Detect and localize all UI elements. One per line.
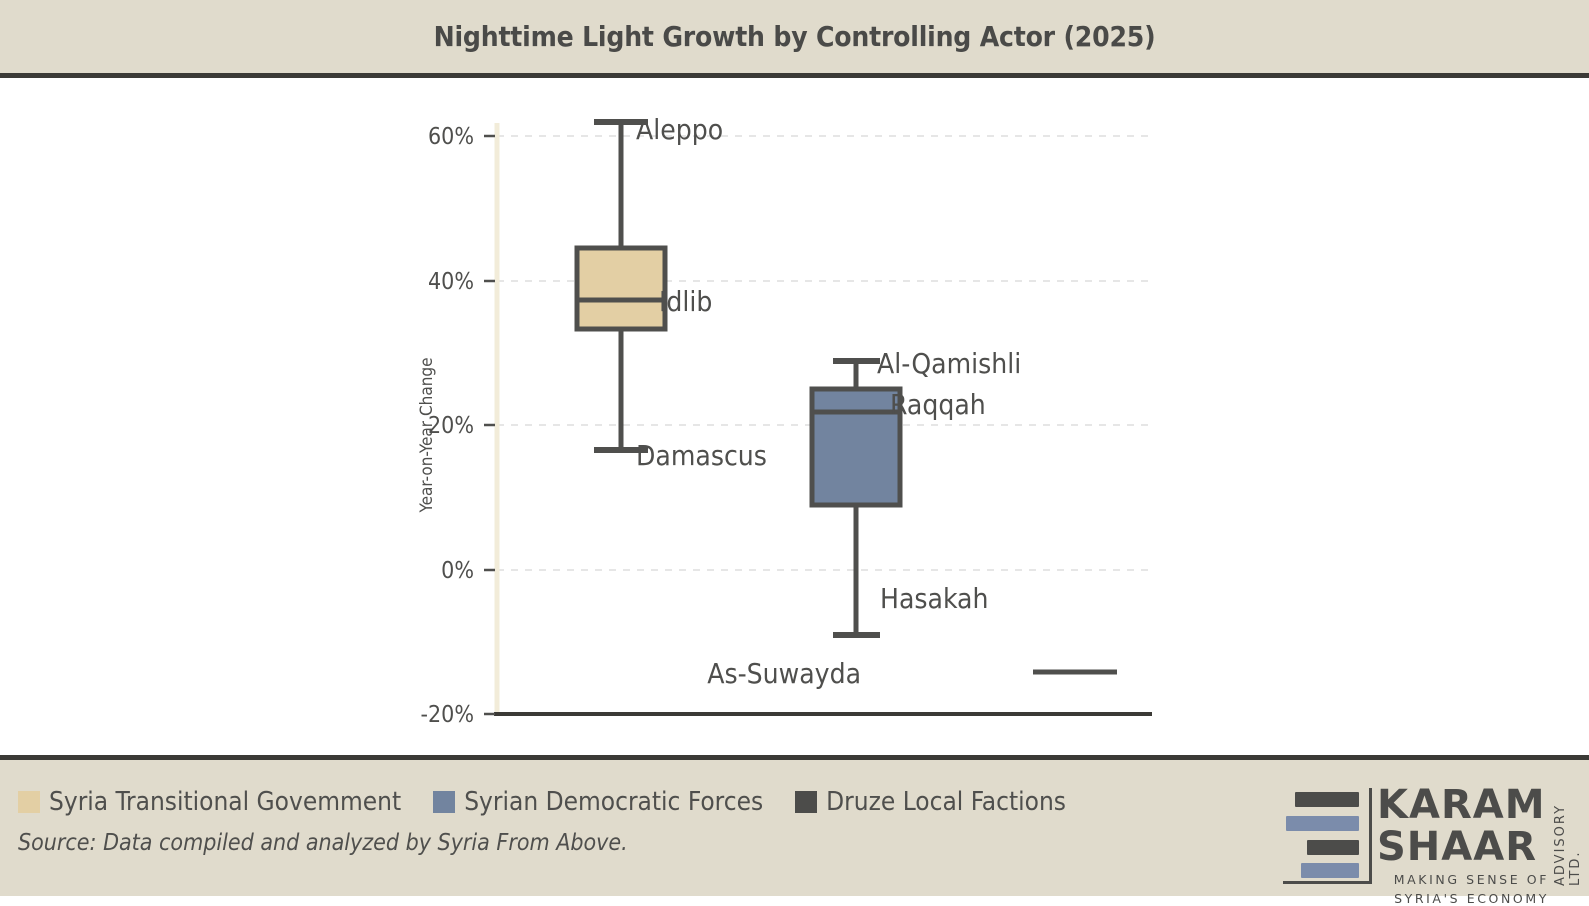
y-tick-label: 40% bbox=[428, 269, 474, 295]
logo-divider-horizontal bbox=[1283, 881, 1372, 884]
logo-wordmark: KARAM SHAAR MAKING SENSE OF SYRIA'S ECON… bbox=[1377, 784, 1549, 906]
logo-line-1: KARAM bbox=[1377, 784, 1549, 826]
plot-area: 60% 40% 20% 0% -20% Year-on-Year Change bbox=[0, 83, 1589, 745]
legend-swatch-icon bbox=[433, 791, 455, 813]
y-axis-title: Year-on-Year Change bbox=[417, 357, 437, 513]
legend-item-syrian-democratic-forces[interactable]: Syrian Democratic Forces bbox=[433, 787, 763, 817]
legend-item-label: Syrian Democratic Forces bbox=[464, 787, 763, 817]
annotation-damascus: Damascus bbox=[636, 439, 767, 472]
annotation-as-suwayda: As-Suwayda bbox=[707, 657, 861, 690]
legend-item-label: Druze Local Factions bbox=[826, 787, 1066, 817]
annotation-al-qamishli: Al-Qamishli bbox=[877, 347, 1021, 380]
legend: Syria Transitional Govemment Syrian Demo… bbox=[18, 787, 1098, 817]
y-tick-marks bbox=[484, 136, 495, 714]
header-band: Nighttime Light Growth by Controlling Ac… bbox=[0, 0, 1589, 78]
annotation-raqqah: Raqqah bbox=[890, 388, 986, 421]
box-rect[interactable] bbox=[812, 389, 900, 505]
box-rect[interactable] bbox=[577, 248, 665, 329]
annotation-idlib: Idlib bbox=[659, 285, 712, 318]
logo-line-2: SHAAR bbox=[1377, 826, 1549, 868]
y-tick-label: 0% bbox=[441, 558, 474, 584]
annotation-hasakah: Hasakah bbox=[880, 582, 988, 615]
box-syria-transitional-government[interactable] bbox=[577, 122, 665, 450]
logo-tagline-1: MAKING SENSE OF bbox=[1377, 872, 1549, 887]
logo-tagline-2: SYRIA'S ECONOMY bbox=[1377, 891, 1549, 906]
karam-shaar-logo: KARAM SHAAR MAKING SENSE OF SYRIA'S ECON… bbox=[1281, 774, 1581, 892]
logo-vertical-text: ADVISORY LTD. bbox=[1557, 782, 1579, 886]
y-tick-label: -20% bbox=[421, 702, 474, 728]
page-title: Nighttime Light Growth by Controlling Ac… bbox=[0, 0, 1589, 73]
legend-item-syria-transitional-government[interactable]: Syria Transitional Govemment bbox=[18, 787, 401, 817]
boxplot-svg: 60% 40% 20% 0% -20% Year-on-Year Change bbox=[0, 83, 1589, 745]
y-tick-label: 60% bbox=[428, 124, 474, 150]
chart-page: Nighttime Light Growth by Controlling Ac… bbox=[0, 0, 1589, 896]
annotation-aleppo: Aleppo bbox=[636, 113, 723, 146]
source-note: Source: Data compiled and analyzed by Sy… bbox=[18, 830, 628, 856]
logo-bars-icon bbox=[1283, 790, 1367, 878]
legend-swatch-icon bbox=[18, 791, 40, 813]
legend-swatch-icon bbox=[795, 791, 817, 813]
footer-band: Syria Transitional Govemment Syrian Demo… bbox=[0, 755, 1589, 896]
logo-divider-vertical bbox=[1369, 788, 1372, 884]
legend-item-druze-local-factions[interactable]: Druze Local Factions bbox=[795, 787, 1066, 817]
legend-item-label: Syria Transitional Govemment bbox=[49, 787, 401, 817]
